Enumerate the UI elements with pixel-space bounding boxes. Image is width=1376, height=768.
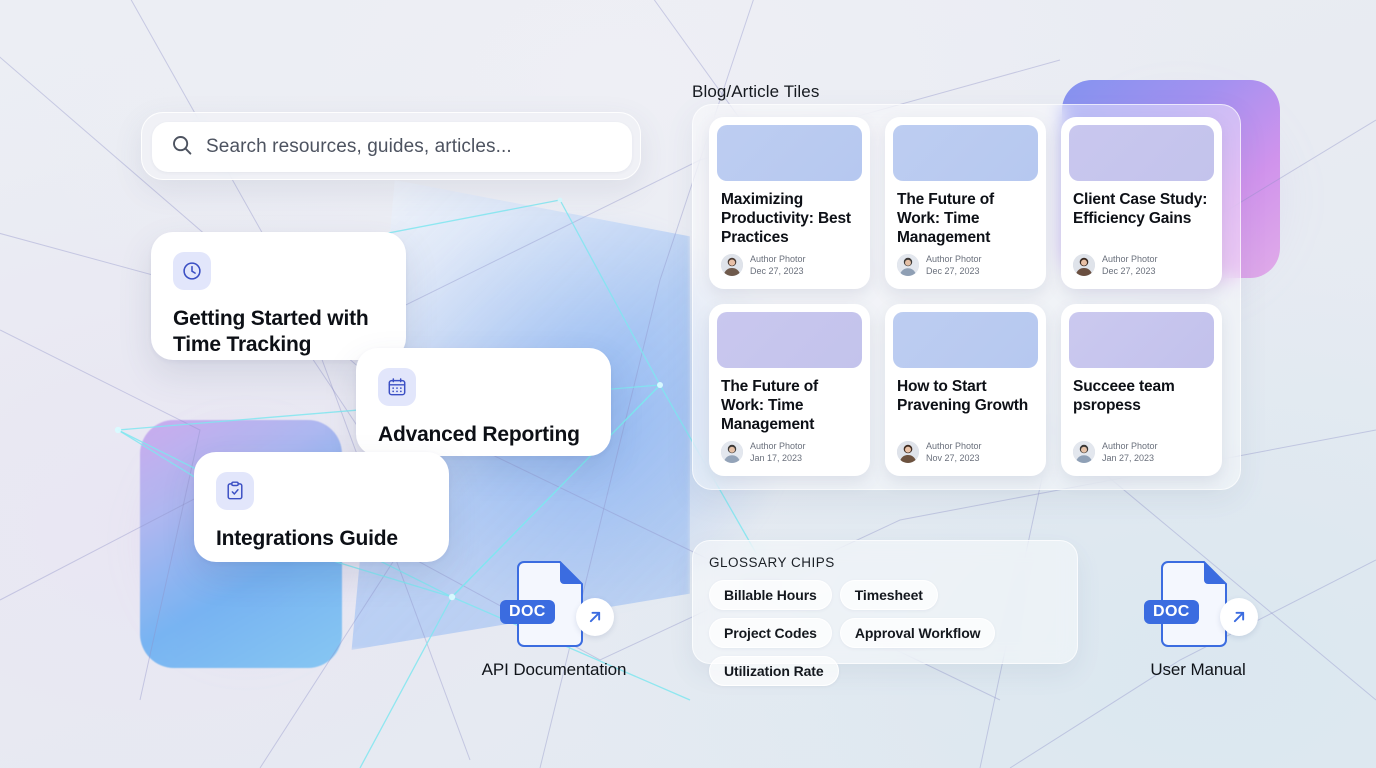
doc-item-api-documentation[interactable]: DOC API Documentation [478, 556, 630, 681]
doc-type-badge: DOC [1144, 600, 1199, 624]
app-canvas: Search resources, guides, articles... Ge… [0, 0, 1376, 768]
search-input[interactable]: Search resources, guides, articles... [152, 122, 632, 172]
tile-author-name: Author Photor [926, 253, 982, 265]
tile-thumbnail [717, 125, 862, 181]
tile-date: Jan 17, 2023 [750, 452, 806, 464]
tile-author-meta: Author Photor Dec 27, 2023 [897, 253, 1034, 277]
glossary-chip[interactable]: Approval Workflow [840, 618, 996, 648]
glossary-chip[interactable]: Project Codes [709, 618, 832, 648]
clipboard-check-icon [216, 472, 254, 510]
avatar [1073, 441, 1095, 463]
blog-panel-label: Blog/Article Tiles [692, 82, 819, 102]
search-icon [170, 133, 194, 162]
tile-author-meta: Author Photor Jan 17, 2023 [721, 440, 858, 464]
doc-file-icon: DOC [504, 556, 604, 652]
tile-author-name: Author Photor [750, 440, 806, 452]
tile-author-text: Author Photor Dec 27, 2023 [1102, 253, 1158, 277]
glossary-chip[interactable]: Timesheet [840, 580, 938, 610]
blog-tile[interactable]: The Future of Work: Time Management Auth… [885, 117, 1046, 289]
tile-author-text: Author Photor Jan 27, 2023 [1102, 440, 1158, 464]
calendar-icon [378, 368, 416, 406]
tile-author-text: Author Photor Dec 27, 2023 [926, 253, 982, 277]
tile-date: Dec 27, 2023 [750, 265, 806, 277]
doc-file-icon: DOC [1148, 556, 1248, 652]
tile-thumbnail [717, 312, 862, 368]
glossary-title: GLOSSARY CHIPS [709, 555, 1061, 570]
glossary-chip[interactable]: Utilization Rate [709, 656, 839, 686]
blog-tiles-grid: Maximizing Productivity: Best Practices … [709, 117, 1226, 476]
tile-author-name: Author Photor [1102, 253, 1158, 265]
doc-item-user-manual[interactable]: DOC User Manual [1122, 556, 1274, 681]
avatar [897, 254, 919, 276]
tile-author-meta: Author Photor Jan 27, 2023 [1073, 440, 1210, 464]
tile-author-text: Author Photor Jan 17, 2023 [750, 440, 806, 464]
tile-author-name: Author Photor [1102, 440, 1158, 452]
tile-author-meta: Author Photor Dec 27, 2023 [1073, 253, 1210, 277]
card-title: Getting Started with Time Tracking [173, 306, 384, 357]
tile-author-meta: Author Photor Dec 27, 2023 [721, 253, 858, 277]
tile-title: The Future of Work: Time Management [897, 191, 1034, 247]
blog-tile[interactable]: Maximizing Productivity: Best Practices … [709, 117, 870, 289]
glossary-chip-list: Billable Hours Timesheet Project Codes A… [709, 580, 1061, 686]
glossary-chips-panel: GLOSSARY CHIPS Billable Hours Timesheet … [692, 540, 1078, 664]
card-title: Advanced Reporting [378, 422, 589, 448]
avatar [721, 441, 743, 463]
tile-title: The Future of Work: Time Management [721, 378, 858, 434]
clock-icon [173, 252, 211, 290]
tile-thumbnail [893, 125, 1038, 181]
tile-author-name: Author Photor [750, 253, 806, 265]
tile-title: Client Case Study: Efficiency Gains [1073, 191, 1210, 229]
tile-author-text: Author Photor Dec 27, 2023 [750, 253, 806, 277]
tile-title: Maximizing Productivity: Best Practices [721, 191, 858, 247]
tile-thumbnail [1069, 312, 1214, 368]
doc-type-badge: DOC [500, 600, 555, 624]
avatar [897, 441, 919, 463]
tile-date: Nov 27, 2023 [926, 452, 982, 464]
avatar [721, 254, 743, 276]
blog-tile[interactable]: Succeee team psropess Author Photor Jan … [1061, 304, 1222, 476]
avatar [1073, 254, 1095, 276]
tile-thumbnail [1069, 125, 1214, 181]
tile-date: Dec 27, 2023 [1102, 265, 1158, 277]
tile-thumbnail [893, 312, 1038, 368]
external-link-icon[interactable] [1220, 598, 1258, 636]
search-placeholder-text: Search resources, guides, articles... [206, 136, 512, 158]
tile-title: Succeee team psropess [1073, 378, 1210, 416]
doc-caption: API Documentation [478, 660, 630, 681]
card-advanced-reporting[interactable]: Advanced Reporting [356, 348, 611, 456]
search-bar-frame: Search resources, guides, articles... [141, 112, 641, 180]
tile-author-text: Author Photor Nov 27, 2023 [926, 440, 982, 464]
tile-author-name: Author Photor [926, 440, 982, 452]
doc-caption: User Manual [1122, 660, 1274, 681]
external-link-icon[interactable] [576, 598, 614, 636]
blog-tile[interactable]: Client Case Study: Efficiency Gains Auth… [1061, 117, 1222, 289]
tile-date: Jan 27, 2023 [1102, 452, 1158, 464]
tile-author-meta: Author Photor Nov 27, 2023 [897, 440, 1034, 464]
glossary-chip[interactable]: Billable Hours [709, 580, 832, 610]
tile-title: How to Start Pravening Growth [897, 378, 1034, 416]
card-getting-started[interactable]: Getting Started with Time Tracking [151, 232, 406, 360]
blog-tile[interactable]: How to Start Pravening Growth Author Pho… [885, 304, 1046, 476]
tile-date: Dec 27, 2023 [926, 265, 982, 277]
blog-tile[interactable]: The Future of Work: Time Management Auth… [709, 304, 870, 476]
blog-tiles-panel: Maximizing Productivity: Best Practices … [692, 104, 1241, 490]
card-title: Integrations Guide [216, 526, 427, 552]
card-integrations-guide[interactable]: Integrations Guide [194, 452, 449, 562]
